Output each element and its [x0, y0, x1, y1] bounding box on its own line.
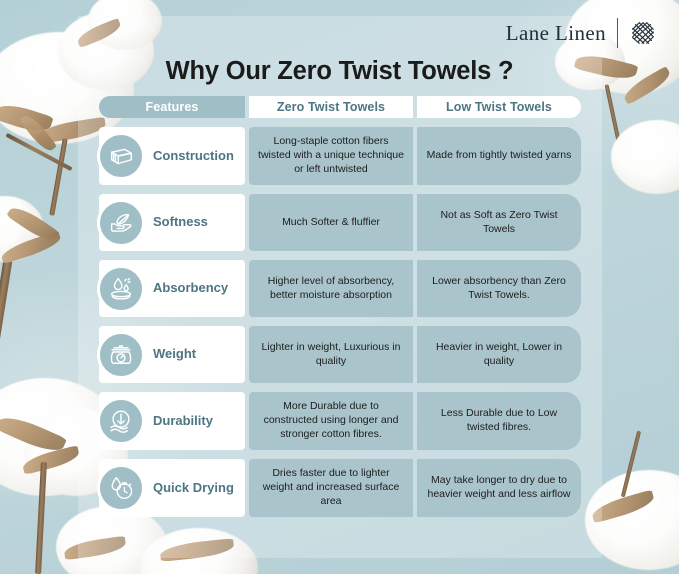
feature-cell: Softness: [99, 194, 245, 251]
zero-twist-cell: Lighter in weight, Luxurious in quality: [249, 326, 413, 383]
header-zero-twist: Zero Twist Towels: [249, 96, 413, 118]
water-droplet-absorb-icon: [97, 265, 145, 313]
brand-logo: Lane Linen: [506, 18, 657, 48]
feature-label: Absorbency: [153, 281, 228, 296]
feature-cell: Quick Drying: [99, 459, 245, 517]
table-row: Construction Long-staple cotton fibers t…: [99, 127, 581, 185]
feature-label: Softness: [153, 215, 208, 230]
comparison-table: Features Zero Twist Towels Low Twist Tow…: [99, 96, 581, 526]
zero-twist-cell: Long-staple cotton fibers twisted with a…: [249, 127, 413, 185]
logo-divider: [617, 18, 618, 48]
low-twist-cell: Not as Soft as Zero Twist Towels: [417, 194, 581, 251]
feature-cell: Absorbency: [99, 260, 245, 317]
feature-label: Quick Drying: [153, 481, 234, 496]
feature-label: Construction: [153, 149, 234, 164]
table-header-row: Features Zero Twist Towels Low Twist Tow…: [99, 96, 581, 118]
low-twist-cell: May take longer to dry due to heavier we…: [417, 459, 581, 517]
woven-lattice-icon: [629, 19, 657, 47]
low-twist-cell: Made from tightly twisted yarns: [417, 127, 581, 185]
down-arrow-waves-icon: [97, 397, 145, 445]
brand-name: Lane Linen: [506, 21, 606, 46]
feature-cell: Weight: [99, 326, 245, 383]
page-title: Why Our Zero Twist Towels ?: [0, 57, 679, 86]
zero-twist-cell: Much Softer & fluffier: [249, 194, 413, 251]
table-row: Quick Drying Dries faster due to lighter…: [99, 459, 581, 517]
zero-twist-cell: More Durable due to constructed using lo…: [249, 392, 413, 450]
feature-label: Durability: [153, 414, 213, 429]
table-row: Durability More Durable due to construct…: [99, 392, 581, 450]
low-twist-cell: Lower absorbency than Zero Twist Towels.: [417, 260, 581, 317]
low-twist-cell: Less Durable due to Low twisted fibres.: [417, 392, 581, 450]
low-twist-cell: Heavier in weight, Lower in quality: [417, 326, 581, 383]
zero-twist-cell: Higher level of absorbency, better moist…: [249, 260, 413, 317]
hand-feather-icon: [97, 199, 145, 247]
table-row: Absorbency Higher level of absorbency, b…: [99, 260, 581, 317]
feature-label: Weight: [153, 347, 196, 362]
feature-cell: Construction: [99, 127, 245, 185]
weighing-scale-icon: [97, 331, 145, 379]
zero-twist-cell: Dries faster due to lighter weight and i…: [249, 459, 413, 517]
feature-cell: Durability: [99, 392, 245, 450]
header-low-twist: Low Twist Towels: [417, 96, 581, 118]
header-features: Features: [99, 96, 245, 118]
folded-towel-icon: [97, 132, 145, 180]
table-row: Softness Much Softer & fluffier Not as S…: [99, 194, 581, 251]
droplet-stopwatch-icon: [97, 464, 145, 512]
table-row: Weight Lighter in weight, Luxurious in q…: [99, 326, 581, 383]
